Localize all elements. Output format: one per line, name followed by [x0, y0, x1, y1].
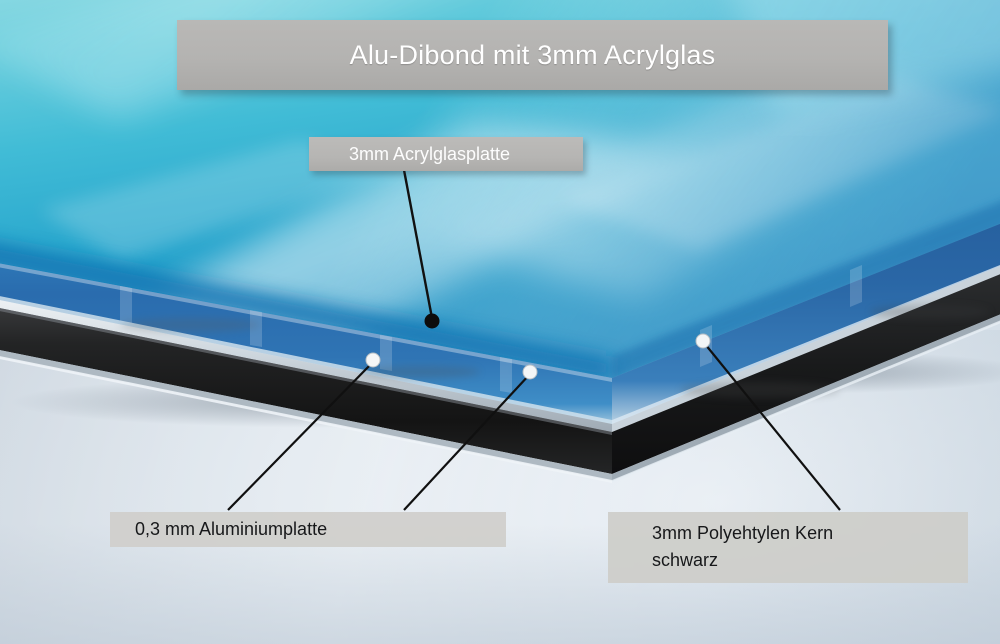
title-text: Alu-Dibond mit 3mm Acrylglas: [350, 40, 716, 71]
callout-label-polyethylene-line1: 3mm Polyehtylen Kern: [652, 520, 833, 547]
title-banner: Alu-Dibond mit 3mm Acrylglas: [177, 20, 888, 90]
callout-label-aluminium-text: 0,3 mm Aluminiumplatte: [135, 519, 327, 540]
product-diagram: Alu-Dibond mit 3mm Acrylglas 3mm Acrylgl…: [0, 0, 1000, 644]
callout-label-polyethylene: 3mm Polyehtylen Kern schwarz: [608, 512, 968, 583]
marker-acrylic-dot: [425, 314, 440, 329]
callout-label-acrylic-text: 3mm Acrylglasplatte: [349, 144, 510, 165]
callout-label-polyethylene-line2: schwarz: [652, 547, 718, 574]
marker-polyethylene-dot: [696, 334, 710, 348]
callout-label-acrylic: 3mm Acrylglasplatte: [309, 137, 583, 171]
marker-aluminium-bottom-dot: [523, 365, 537, 379]
marker-aluminium-top-dot: [366, 353, 380, 367]
callout-label-aluminium: 0,3 mm Aluminiumplatte: [110, 512, 506, 547]
